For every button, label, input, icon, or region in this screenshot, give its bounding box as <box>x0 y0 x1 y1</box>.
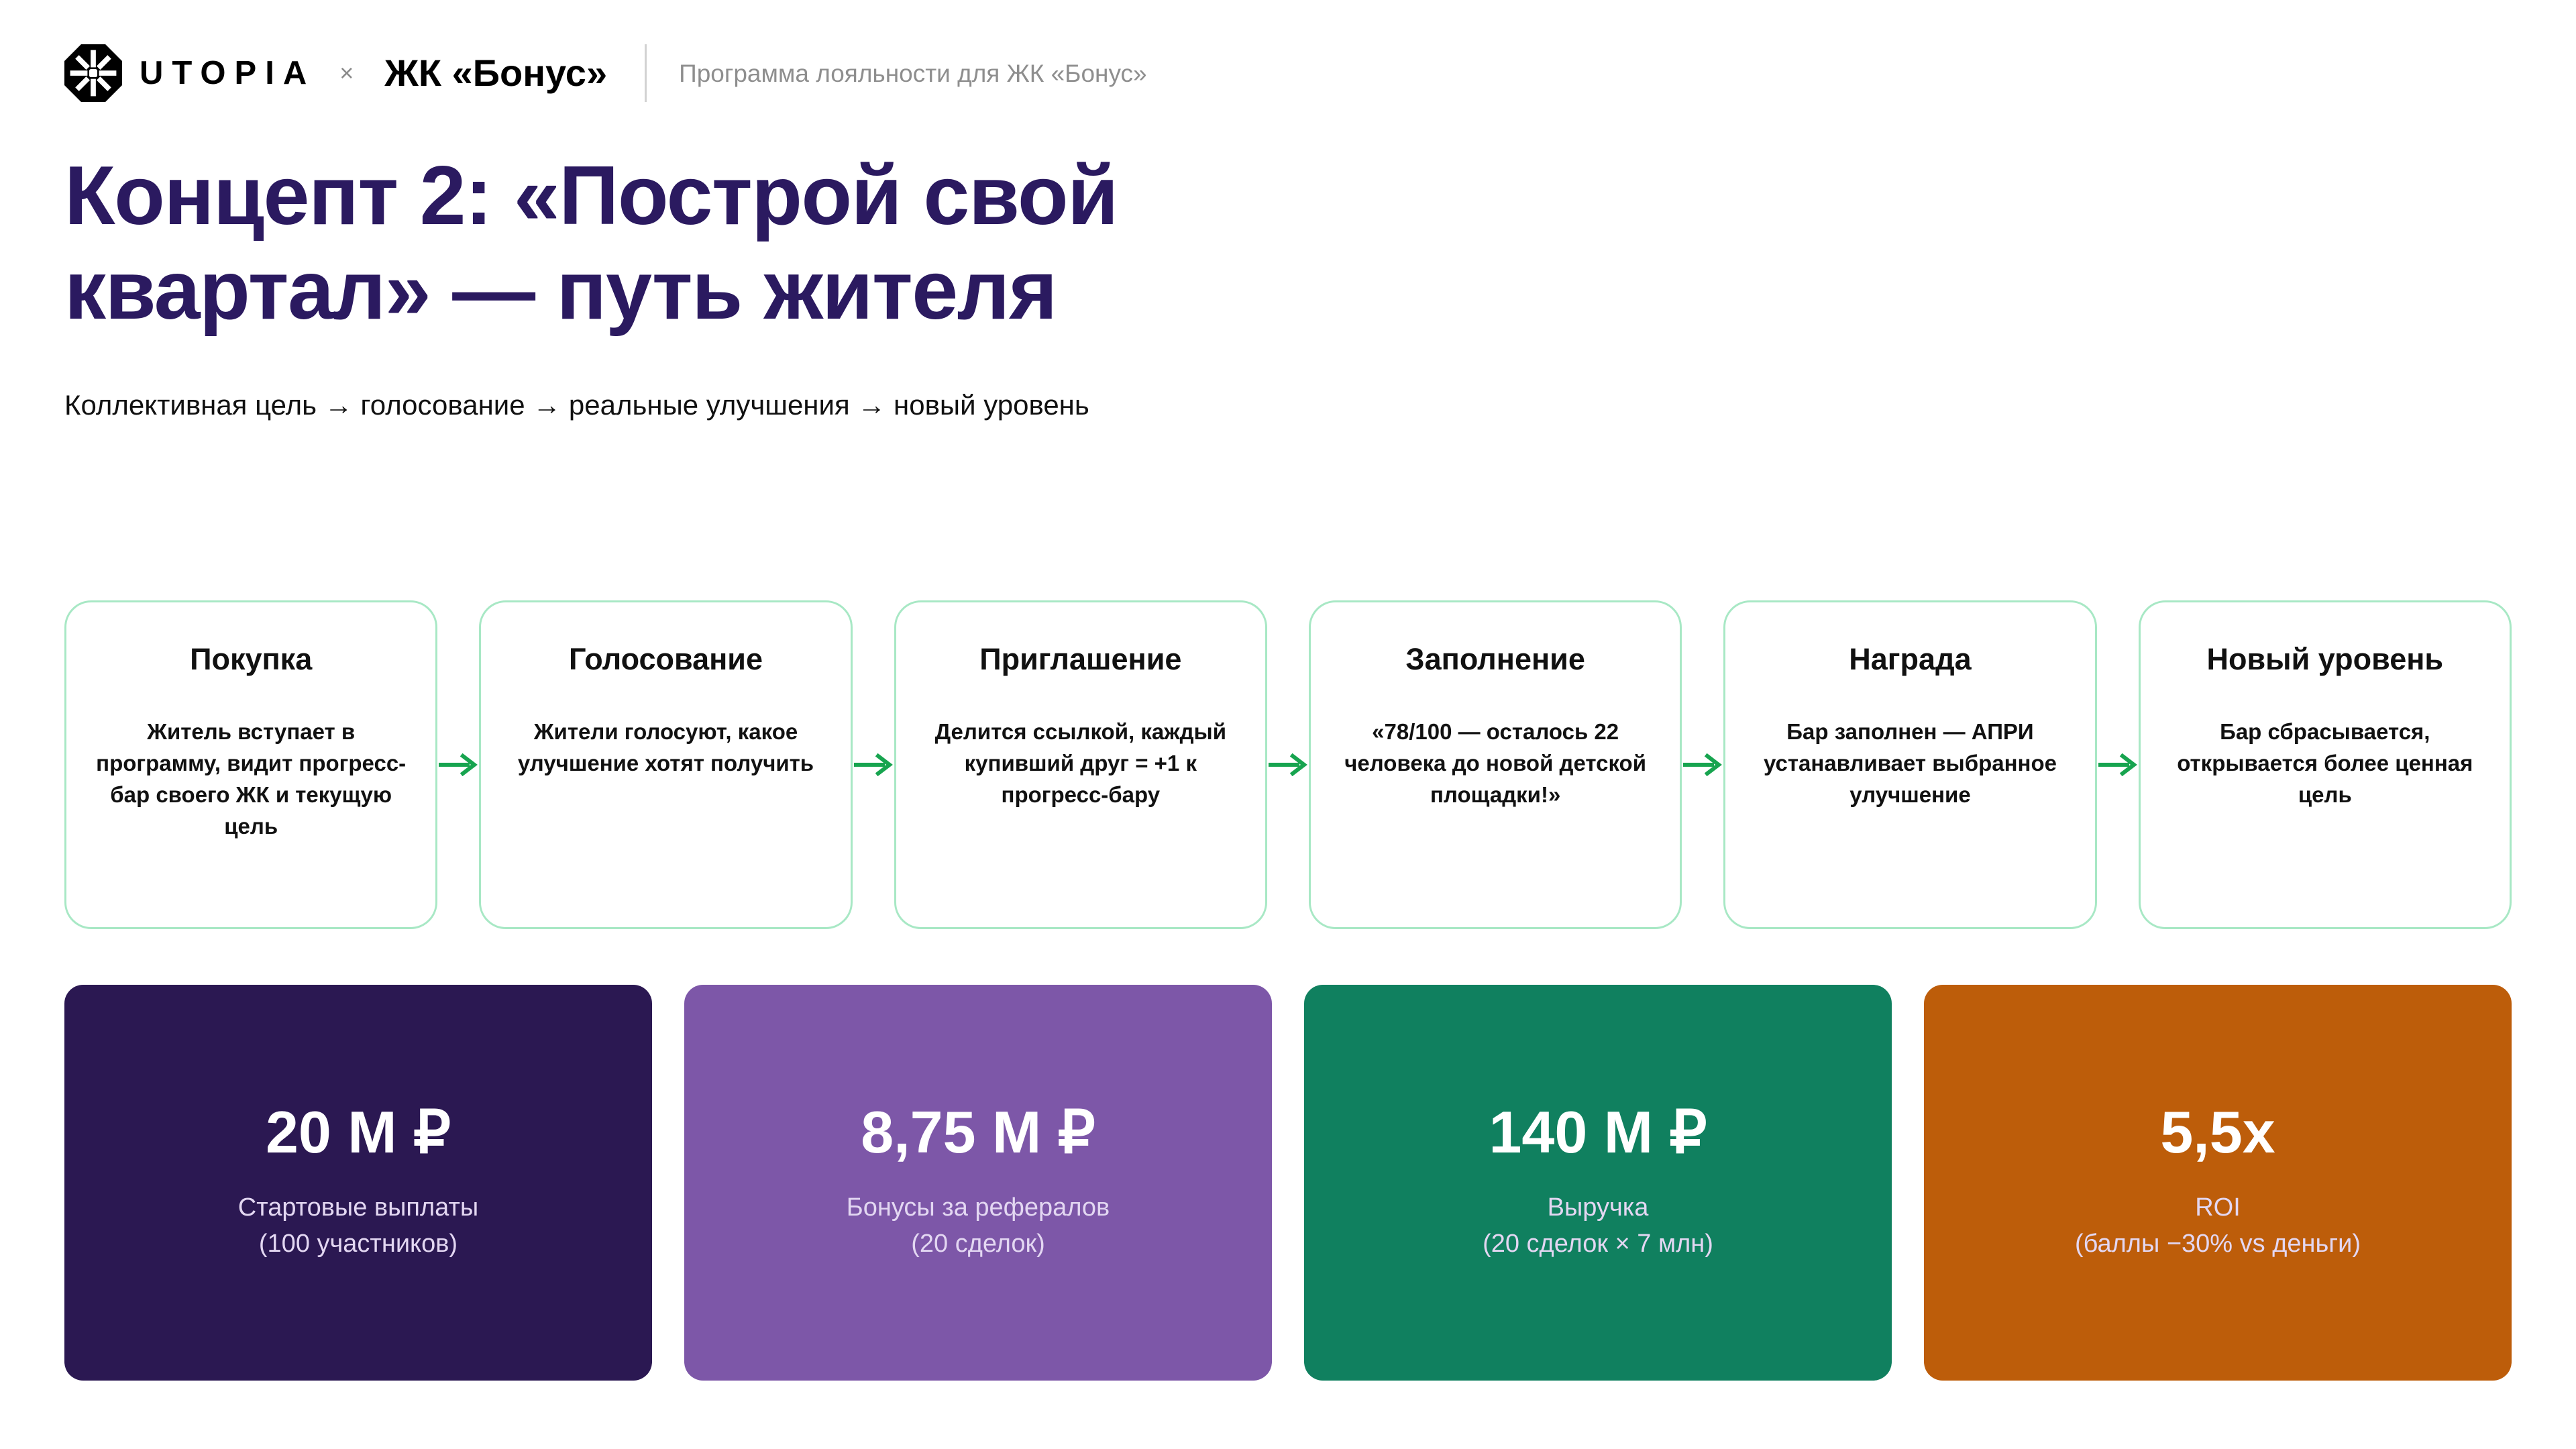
metric-label: Бонусы за рефералов (20 сделок) <box>847 1190 1110 1263</box>
flow-step-card: Награда Бар заполнен — АПРИ устанавливае… <box>1723 600 2096 929</box>
metric-label-sub: (100 участников) <box>238 1226 478 1263</box>
page-title: Концепт 2: «Построй свой квартал» — путь… <box>64 149 1607 339</box>
flow-step-card: Новый уровень Бар сбрасывается, открывае… <box>2139 600 2512 929</box>
page-title-line-2: квартал» — путь жителя <box>64 244 1057 337</box>
slide-header: UTOPIA × ЖК «Бонус» Программа лояльности… <box>64 0 2512 101</box>
metric-label-main: ROI <box>2195 1193 2241 1222</box>
arrow-right-icon <box>1267 600 1309 929</box>
flow-step-title: Покупка <box>190 641 312 678</box>
metric-tile: 8,75 М ₽ Бонусы за рефералов (20 сделок) <box>684 985 1272 1381</box>
flow-step-description: Бар заполнен — АПРИ устанавливает выбран… <box>1754 716 2066 811</box>
metric-value: 8,75 М ₽ <box>861 1103 1095 1162</box>
partner-name: ЖК «Бонус» <box>384 54 607 92</box>
metric-value: 140 М ₽ <box>1489 1103 1707 1162</box>
flow-step-description: Бар сбрасывается, открывается более ценн… <box>2169 716 2481 811</box>
flow-step-description: Делится ссылкой, каждый купивший друг = … <box>924 716 1237 811</box>
flow-step-card: Приглашение Делится ссылкой, каждый купи… <box>894 600 1267 929</box>
flow-step-card: Покупка Житель вступает в программу, вид… <box>64 600 437 929</box>
metric-tile: 20 М ₽ Стартовые выплаты (100 участников… <box>64 985 652 1381</box>
arrow-right-icon <box>2097 600 2139 929</box>
utopia-octagon-asterisk-icon <box>64 44 122 102</box>
flow-step-title: Приглашение <box>979 641 1181 678</box>
slide-root: UTOPIA × ЖК «Бонус» Программа лояльности… <box>0 0 2576 1449</box>
flow-step-title: Новый уровень <box>2207 641 2444 678</box>
metric-label: ROI (баллы −30% vs деньги) <box>2075 1190 2361 1263</box>
brand-lockup: UTOPIA × ЖК «Бонус» <box>64 44 607 102</box>
metric-label-main: Стартовые выплаты <box>238 1193 478 1222</box>
metric-label-sub: (20 сделок × 7 млн) <box>1483 1226 1713 1263</box>
brand-separator-icon: × <box>339 61 354 85</box>
metric-label: Стартовые выплаты (100 участников) <box>238 1190 478 1263</box>
journey-flow: Покупка Житель вступает в программу, вид… <box>64 600 2512 929</box>
arrow-right-icon <box>853 600 894 929</box>
flow-step-card: Заполнение «78/100 — осталось 22 человек… <box>1309 600 1682 929</box>
flow-step-card: Голосование Жители голосуют, какое улучш… <box>479 600 852 929</box>
flow-step-description: Жители голосуют, какое улучшение хотят п… <box>509 716 822 780</box>
logo-wordmark: UTOPIA <box>140 57 315 90</box>
flow-step-title: Награда <box>1849 641 1971 678</box>
metric-label-main: Бонусы за рефералов <box>847 1193 1110 1222</box>
flow-step-title: Голосование <box>569 641 763 678</box>
metric-label-sub: (баллы −30% vs деньги) <box>2075 1226 2361 1263</box>
metrics-row: 20 М ₽ Стартовые выплаты (100 участников… <box>64 985 2512 1381</box>
flow-step-description: Житель вступает в программу, видит прогр… <box>95 716 407 842</box>
flow-step-description: «78/100 — осталось 22 человека до новой … <box>1339 716 1652 811</box>
header-caption: Программа лояльности для ЖК «Бонус» <box>679 61 1147 86</box>
metric-value: 20 М ₽ <box>266 1103 451 1162</box>
arrow-right-icon <box>1682 600 1723 929</box>
flow-step-title: Заполнение <box>1405 641 1585 678</box>
metric-tile: 140 М ₽ Выручка (20 сделок × 7 млн) <box>1304 985 1892 1381</box>
page-title-line-1: Концепт 2: «Построй свой <box>64 150 1118 242</box>
metric-value: 5,5x <box>2160 1103 2275 1162</box>
arrow-right-icon <box>437 600 479 929</box>
metric-label: Выручка (20 сделок × 7 млн) <box>1483 1190 1713 1263</box>
metric-label-main: Выручка <box>1548 1193 1649 1222</box>
title-block: Концепт 2: «Построй свой квартал» — путь… <box>64 149 2512 423</box>
header-divider <box>645 44 647 102</box>
metric-tile: 5,5x ROI (баллы −30% vs деньги) <box>1924 985 2512 1381</box>
page-subtitle: Коллективная цель → голосование → реальн… <box>64 387 2512 424</box>
metric-label-sub: (20 сделок) <box>847 1226 1110 1263</box>
